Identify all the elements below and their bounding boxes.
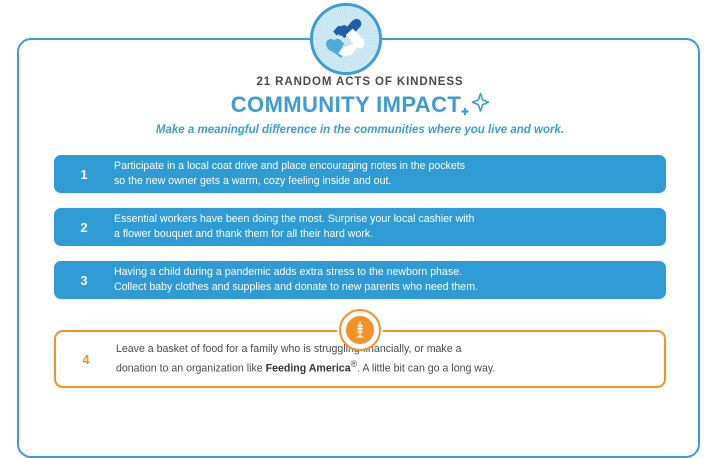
act-text-line-1: Having a child during a pandemic adds ex… <box>114 266 462 278</box>
act-item-2: 2 Essential workers have been doing the … <box>54 208 666 246</box>
eyebrow-label: 21 RANDOM ACTS OF KINDNESS <box>0 76 720 88</box>
sparkle-star-icon <box>459 92 489 118</box>
act-text: Participate in a local coat drive and pl… <box>114 159 666 189</box>
act-number: 3 <box>54 273 114 288</box>
act-item-3: 3 Having a child during a pandemic adds … <box>54 261 666 299</box>
page-title: COMMUNITY IMPACT <box>231 92 461 117</box>
act-text-line-2: Collect baby clothes and supplies and do… <box>114 281 478 293</box>
act-text: Essential workers have been doing the mo… <box>114 212 666 242</box>
act-item-1: 1 Participate in a local coat drive and … <box>54 155 666 193</box>
subtitle-text: Make a meaningful difference in the comm… <box>0 124 720 136</box>
act-number: 4 <box>56 352 116 367</box>
act-number: 1 <box>54 167 114 182</box>
wheat-stalk-icon <box>343 313 377 347</box>
act-text-org-name: Feeding America <box>266 362 351 374</box>
act-text-line-2-post: . A little bit can go a long way. <box>357 362 495 374</box>
act-text-line-2: so the new owner gets a warm, cozy feeli… <box>114 175 391 187</box>
act-text-line-1: Participate in a local coat drive and pl… <box>114 160 465 172</box>
act-text-line-2-pre: donation to an organization like <box>116 362 266 374</box>
act-text: Having a child during a pandemic adds ex… <box>114 265 666 295</box>
three-hands-circle-icon <box>310 3 382 75</box>
act-text-line-1: Leave a basket of food for a family who … <box>116 343 461 355</box>
act-text-line-1: Essential workers have been doing the mo… <box>114 213 474 225</box>
title-row: COMMUNITY IMPACT <box>0 92 720 118</box>
act-number: 2 <box>54 220 114 235</box>
act-text-line-2: a flower bouquet and thank them for all … <box>114 228 373 240</box>
act-text: Leave a basket of food for a family who … <box>116 342 664 377</box>
